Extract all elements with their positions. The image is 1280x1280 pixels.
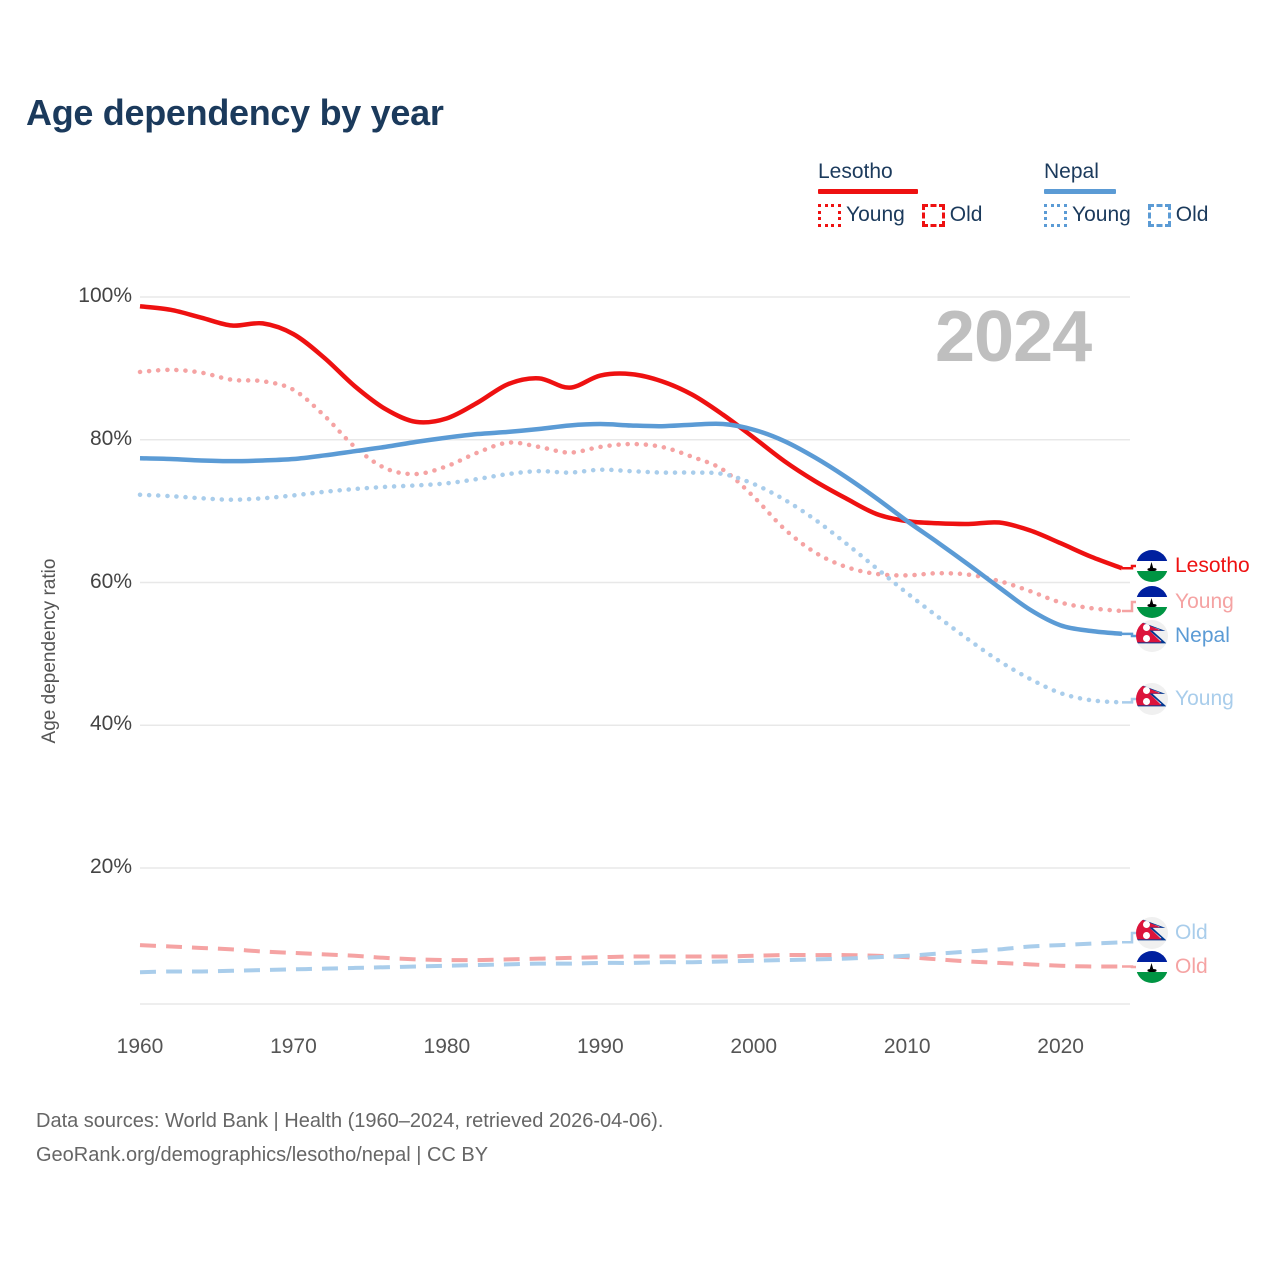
series-end-label-text: Young	[1175, 687, 1234, 711]
y-axis-tick-label: 80%	[12, 427, 132, 451]
x-axis-tick-label: 1970	[233, 1035, 353, 1059]
lesotho-flag-icon	[1136, 550, 1168, 582]
footer-line-2[interactable]: GeoRank.org/demographics/lesotho/nepal |…	[36, 1138, 663, 1172]
y-axis-tick-label: 100%	[12, 284, 132, 308]
series-end-label-text: Old	[1175, 921, 1208, 945]
series-end-label[interactable]: Old	[1136, 917, 1208, 949]
y-axis-tick-label: 60%	[12, 570, 132, 594]
lesotho-flag-icon	[1136, 586, 1168, 618]
x-axis-tick-label: 1990	[540, 1035, 660, 1059]
nepal-flag-icon	[1136, 683, 1168, 715]
nepal-flag-icon	[1136, 620, 1168, 652]
series-end-label[interactable]: Young	[1136, 683, 1234, 715]
y-axis-tick-label: 20%	[12, 855, 132, 879]
x-axis-tick-label: 2010	[847, 1035, 967, 1059]
series-end-label[interactable]: Nepal	[1136, 620, 1230, 652]
series-line-nepal-old	[140, 942, 1122, 972]
series-end-label-text: Nepal	[1175, 624, 1230, 648]
series-line-lesotho-old	[140, 945, 1122, 966]
series-line-nepal-young	[140, 470, 1122, 703]
series-end-label-text: Lesotho	[1175, 554, 1250, 578]
series-line-lesotho-young	[140, 370, 1122, 611]
series-end-label-text: Young	[1175, 590, 1234, 614]
series-end-label[interactable]: Lesotho	[1136, 550, 1250, 582]
x-axis-tick-label: 2000	[694, 1035, 814, 1059]
year-watermark: 2024	[935, 296, 1091, 378]
lesotho-flag-icon	[1136, 951, 1168, 983]
series-end-label[interactable]: Young	[1136, 586, 1234, 618]
footer-line-1: Data sources: World Bank | Health (1960–…	[36, 1104, 663, 1138]
y-axis-tick-label: 40%	[12, 712, 132, 736]
chart-plot-area: 2024 Age dependency ratio 20%40%60%80%10…	[0, 0, 1280, 1280]
chart-svg	[0, 0, 1280, 1280]
x-axis-tick-label: 1960	[80, 1035, 200, 1059]
series-end-label[interactable]: Old	[1136, 951, 1208, 983]
series-line-nepal	[140, 424, 1122, 634]
footer-credits: Data sources: World Bank | Health (1960–…	[36, 1104, 663, 1172]
nepal-flag-icon	[1136, 917, 1168, 949]
x-axis-tick-label: 1980	[387, 1035, 507, 1059]
series-end-label-text: Old	[1175, 955, 1208, 979]
x-axis-tick-label: 2020	[1001, 1035, 1121, 1059]
